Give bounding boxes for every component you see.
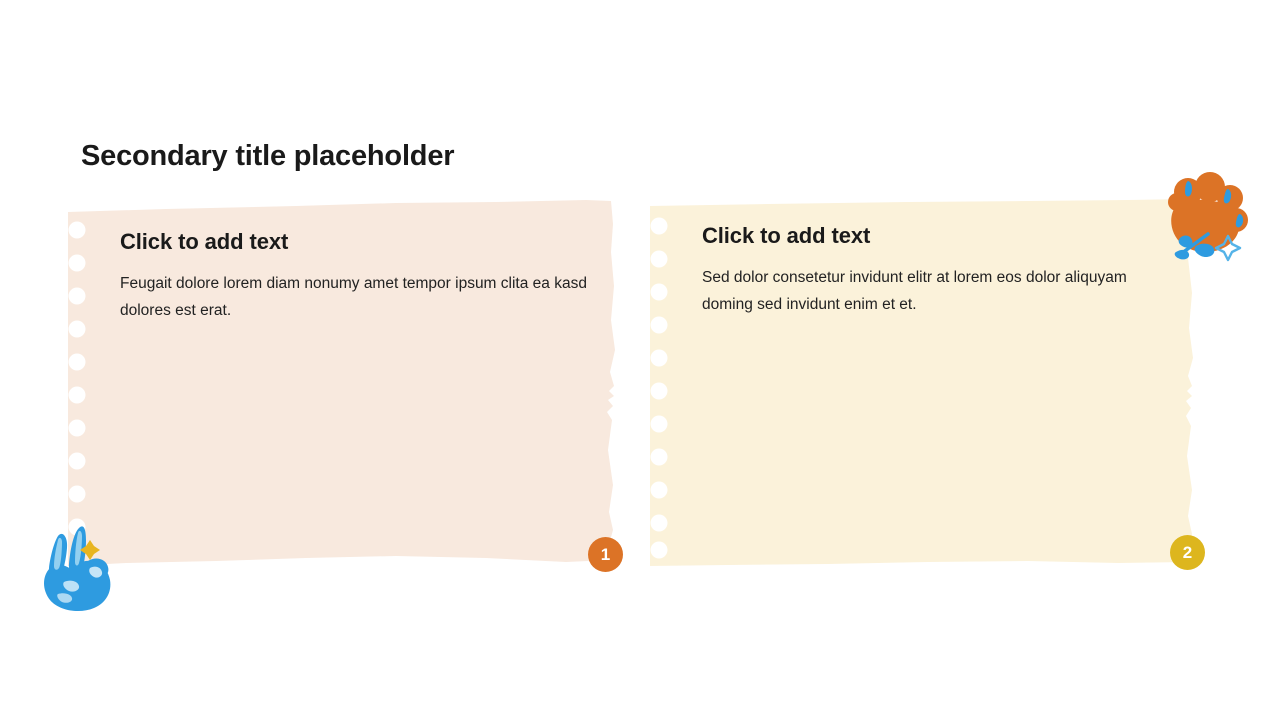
page-title[interactable]: Secondary title placeholder — [81, 138, 454, 174]
slide-canvas: Secondary title placeholder — [0, 0, 1280, 720]
card-2-body[interactable]: Sed dolor consetetur invidunt elitr at l… — [702, 264, 1154, 318]
card-1-body[interactable]: Feugait dolore lorem diam nonumy amet te… — [120, 270, 598, 324]
card-1-text-block: Click to add text Feugait dolore lorem d… — [120, 228, 598, 324]
card-2-heading[interactable]: Click to add text — [702, 222, 1154, 250]
content-card-2[interactable]: Click to add text Sed dolor consetetur i… — [648, 198, 1200, 566]
card-2-text-block: Click to add text Sed dolor consetetur i… — [702, 222, 1154, 318]
content-card-1[interactable]: Click to add text Feugait dolore lorem d… — [66, 200, 618, 568]
card-1-number-badge: 1 — [588, 537, 623, 572]
card-2-number-badge: 2 — [1170, 535, 1205, 570]
card-1-heading[interactable]: Click to add text — [120, 228, 598, 256]
